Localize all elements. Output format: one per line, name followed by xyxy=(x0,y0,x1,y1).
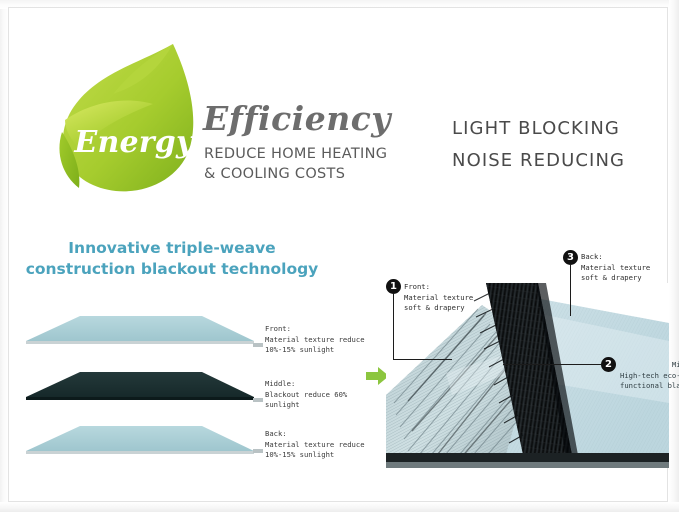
callout-2-leader-horizontal xyxy=(503,364,601,365)
callout-1-desc1: Material texture xyxy=(404,293,473,304)
callout-3-desc2: soft & drapery xyxy=(581,273,650,284)
leaf-drop-icon xyxy=(45,28,215,198)
front-layer-shape xyxy=(26,314,254,348)
section-heading: Innovative triple-weave construction bla… xyxy=(22,238,322,280)
middle-layer-shape xyxy=(26,370,254,404)
callout-2-bullet: 2 xyxy=(601,357,616,372)
section-heading-line1: Innovative triple-weave xyxy=(22,238,322,259)
callout-3-bullet: 3 xyxy=(563,250,578,265)
logo-wordmark: Energy xyxy=(54,125,214,160)
callout-3-desc1: Material texture xyxy=(581,263,650,274)
page-subtitle-line1: REDUCE HOME HEATING xyxy=(204,144,387,164)
callout-2-title: Middle: xyxy=(620,360,679,371)
callout-1-title: Front: xyxy=(404,282,473,293)
callout-1-desc2: soft & drapery xyxy=(404,303,473,314)
layer-label-middle: Middle: Blackout reduce 60% sunlight xyxy=(265,379,347,411)
claim-light-blocking: LIGHT BLOCKING xyxy=(452,113,625,145)
product-claims: LIGHT BLOCKING NOISE REDUCING xyxy=(452,113,625,177)
layer-label-back-title: Back: xyxy=(265,429,365,440)
layer-label-back-desc1: Material texture reduce xyxy=(265,440,365,451)
connector-nub-front xyxy=(253,343,263,347)
page-title: Efficiency xyxy=(203,99,391,138)
layer-label-middle-desc2: sunlight xyxy=(265,400,347,411)
layer-label-middle-title: Middle: xyxy=(265,379,347,390)
callout-1-bullet: 1 xyxy=(386,279,401,294)
callout-1-text: Front: Material texture soft & drapery xyxy=(404,282,473,314)
callout-3-text: Back: Material texture soft & drapery xyxy=(581,252,650,284)
callout-1-leader-vertical xyxy=(393,294,394,360)
connector-nub-middle xyxy=(253,398,263,402)
layer-label-back-desc2: 10%-15% sunlight xyxy=(265,450,365,461)
section-heading-line2: construction blackout technology xyxy=(22,259,322,280)
frame-edge-left xyxy=(0,0,9,512)
frame-edge-bottom xyxy=(0,502,679,512)
callout-1-leader-horizontal xyxy=(393,359,452,360)
layer-swatch-middle xyxy=(26,370,254,404)
layer-label-front-desc1: Material texture reduce xyxy=(265,335,365,346)
layer-swatch-back xyxy=(26,424,254,458)
callout-3-title: Back: xyxy=(581,252,650,263)
callout-2-text: Middle: High-tech eco-yarn functional bl… xyxy=(620,360,679,392)
layer-label-front: Front: Material texture reduce 10%-15% s… xyxy=(265,324,365,356)
frame-edge-right xyxy=(669,0,679,512)
page-subtitle: REDUCE HOME HEATING & COOLING COSTS xyxy=(204,144,387,184)
layer-label-front-title: Front: xyxy=(265,324,365,335)
infographic-canvas: Energy Efficiency REDUCE HOME HEATING & … xyxy=(0,0,679,512)
energy-logo: Energy xyxy=(45,28,215,198)
callout-3-leader-vertical xyxy=(570,265,571,316)
layer-swatch-front xyxy=(26,314,254,348)
page-subtitle-line2: & COOLING COSTS xyxy=(204,164,387,184)
callout-2-desc1: High-tech eco-yarn xyxy=(620,371,679,382)
back-layer-shape xyxy=(26,424,254,458)
callout-2-desc2: functional blackout xyxy=(620,381,679,392)
layer-label-middle-desc1: Blackout reduce 60% xyxy=(265,390,347,401)
layer-label-back: Back: Material texture reduce 10%-15% su… xyxy=(265,429,365,461)
layer-label-front-desc2: 10%-15% sunlight xyxy=(265,345,365,356)
claim-noise-reducing: NOISE REDUCING xyxy=(452,145,625,177)
frame-edge-top xyxy=(0,0,679,9)
connector-nub-back xyxy=(253,449,263,453)
